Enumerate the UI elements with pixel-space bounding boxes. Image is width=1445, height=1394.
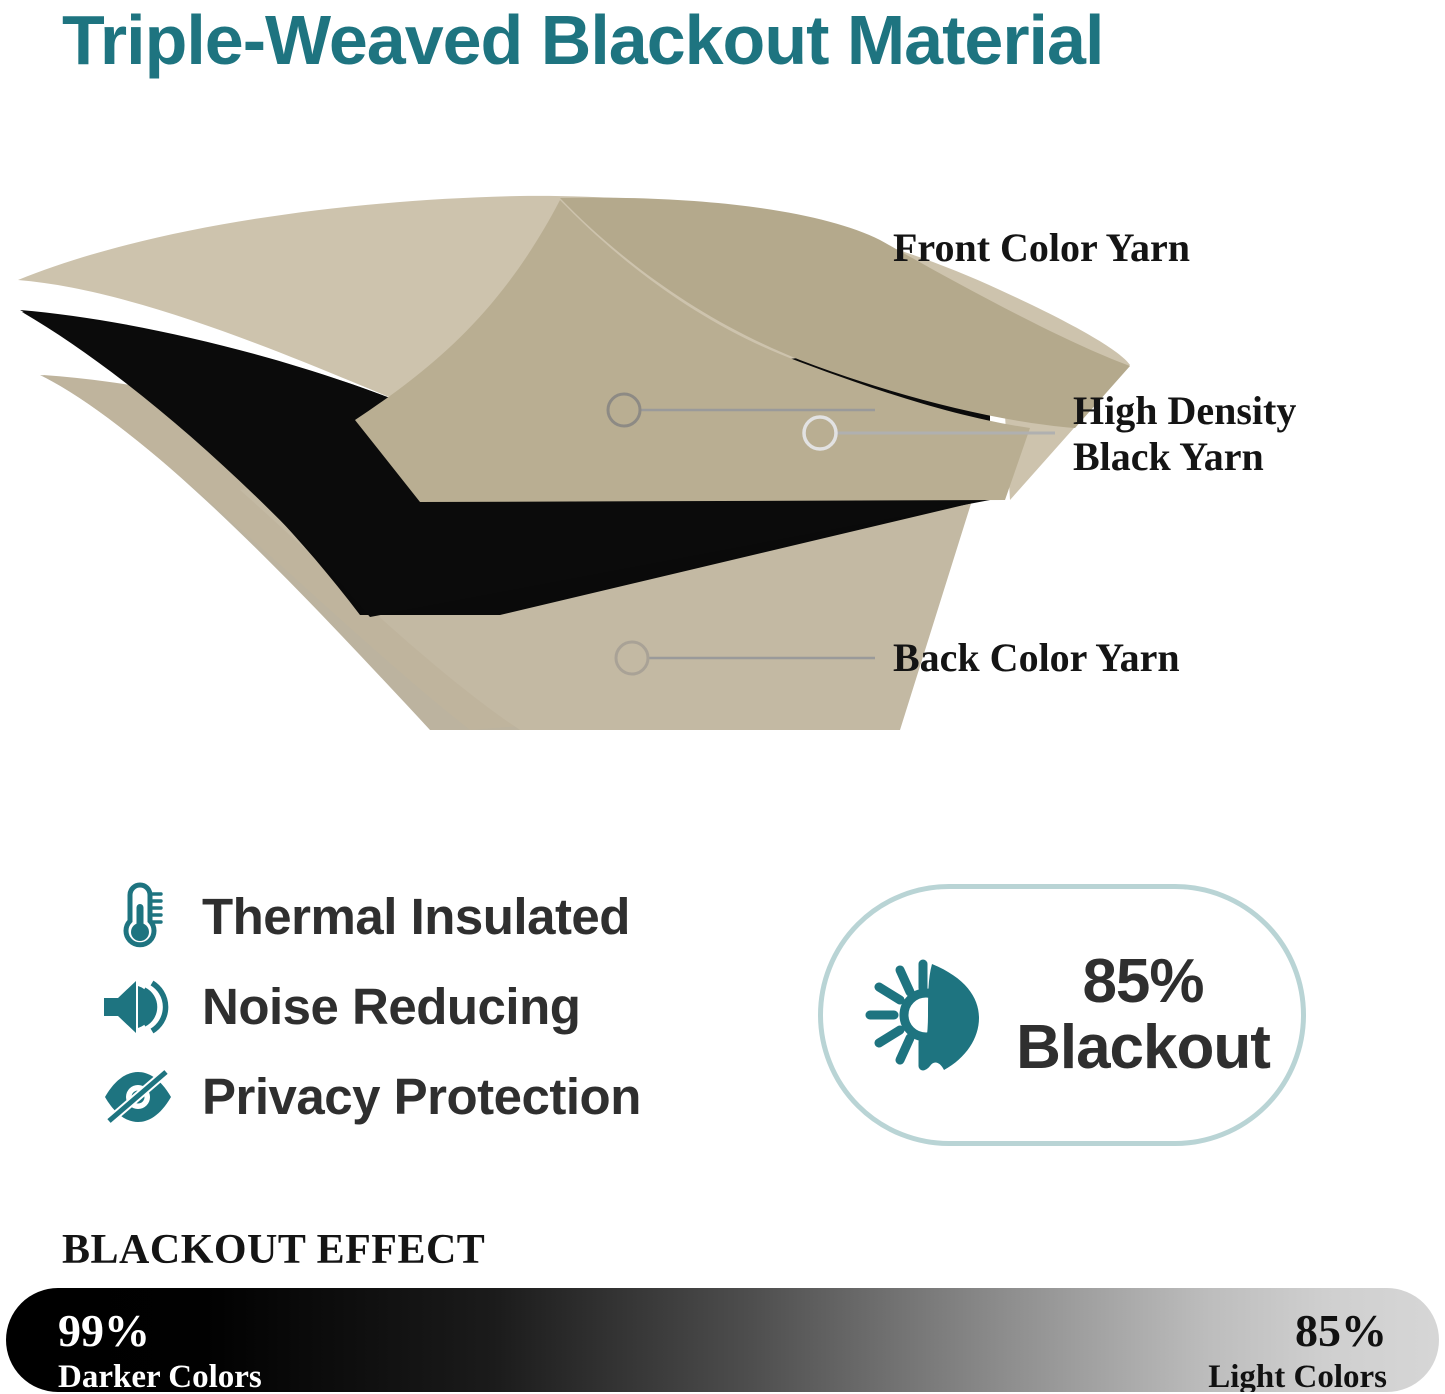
blackout-percentage-badge: 85% Blackout [818,884,1306,1146]
light-percent: 85% [1208,1306,1387,1356]
callout-label-back: Back Color Yarn [893,635,1180,681]
feature-list: Thermal Insulated Noise Reducing Privacy… [100,872,740,1142]
gradient-bar-stat-dark: 99% Darker Colors [58,1306,262,1392]
feature-label-thermal: Thermal Insulated [202,889,630,945]
callout-label-high-density: High Density Black Yarn [1073,388,1373,480]
feature-item-privacy: Privacy Protection [100,1052,740,1142]
feature-item-thermal: Thermal Insulated [100,872,740,962]
page-title: Triple-Weaved Blackout Material [62,0,1402,82]
blackout-effect-gradient-bar: 99% Darker Colors 85% Light Colors [6,1288,1439,1392]
dark-caption: Darker Colors [58,1358,262,1392]
light-caption: Light Colors [1208,1358,1387,1392]
badge-percent: 85% [1016,949,1270,1015]
thermometer-icon [100,881,178,953]
badge-word: Blackout [1016,1015,1270,1081]
feature-label-noise: Noise Reducing [202,979,580,1035]
badge-text-block: 85% Blackout [1016,949,1270,1081]
feature-label-privacy: Privacy Protection [202,1069,641,1125]
gradient-bar-stat-light: 85% Light Colors [1208,1306,1387,1392]
eye-slash-icon [100,1061,178,1133]
sun-blocked-icon [848,940,998,1090]
dark-percent: 99% [58,1306,262,1356]
speaker-volume-icon [100,971,178,1043]
callout-label-front: Front Color Yarn [893,225,1190,271]
feature-item-noise: Noise Reducing [100,962,740,1052]
blackout-effect-title: BLACKOUT EFFECT [62,1226,485,1274]
